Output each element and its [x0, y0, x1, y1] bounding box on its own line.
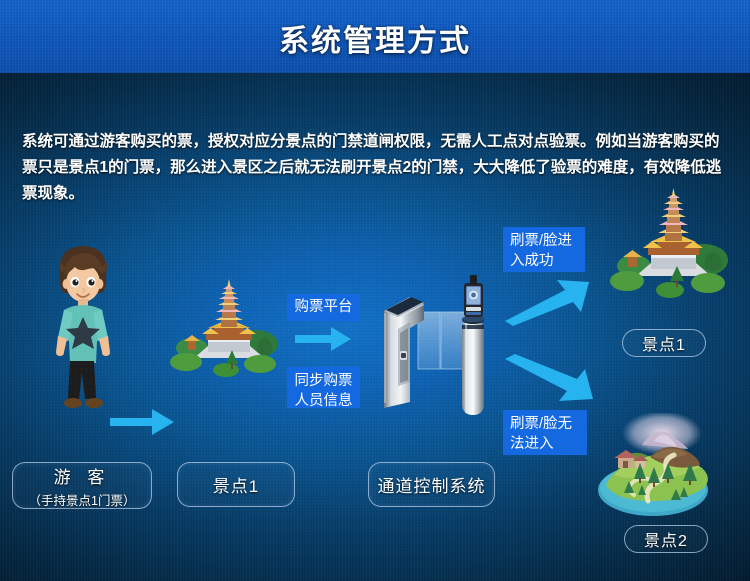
header-band: 系统管理方式	[0, 0, 750, 73]
badge-spot2: 景点2	[624, 525, 708, 553]
intro-paragraph: 系统可通过游客购买的票，授权对应分景点的门禁道闸权限，无需人工点对点验票。例如当…	[22, 129, 728, 207]
arrow-right-icon	[110, 407, 176, 437]
callout-entry-success-line1: 刷票/脸进	[510, 231, 578, 251]
infographic-root: 系统管理方式 系统可通过游客购买的票，授权对应分景点的门禁道闸权限，无需人工点对…	[0, 0, 750, 581]
island-scene-icon	[596, 413, 716, 521]
arrow-up-right-icon	[503, 278, 595, 326]
callout-sync-info-line2: 人员信息	[294, 391, 353, 411]
label-gate-control-system-text: 通道控制系统	[378, 472, 486, 497]
label-tourist-line1: 游 客	[54, 463, 111, 488]
label-spot1-text: 景点1	[213, 472, 259, 497]
label-tourist: 游 客 （手持景点1门票）	[12, 462, 152, 509]
page-title: 系统管理方式	[0, 16, 750, 60]
badge-spot2-label: 景点2	[644, 527, 688, 551]
tourist-person-icon	[40, 243, 126, 413]
diagram-canvas: 系统可通过游客购买的票，授权对应分景点的门禁道闸权限，无需人工点对点验票。例如当…	[0, 73, 750, 581]
callout-ticket-platform: 购票平台	[287, 294, 360, 321]
badge-spot1-label: 景点1	[642, 331, 686, 355]
pagoda-scene-icon	[168, 278, 284, 388]
badge-spot1: 景点1	[622, 329, 706, 357]
turnstile-gate-icon	[378, 273, 490, 463]
callout-entry-success-line2: 入成功	[510, 251, 578, 271]
callout-sync-info: 同步购票 人员信息	[287, 367, 360, 408]
label-gate-control-system: 通道控制系统	[368, 462, 495, 507]
callout-entry-denied-line2: 法进入	[510, 434, 580, 454]
callout-entry-denied: 刷票/脸无 法进入	[503, 410, 587, 455]
callout-ticket-platform-text: 购票平台	[295, 299, 353, 315]
arrow-down-right-icon	[503, 353, 597, 403]
arrow-right-small-icon	[295, 326, 353, 352]
label-spot1: 景点1	[177, 462, 295, 507]
callout-entry-denied-line1: 刷票/脸无	[510, 414, 580, 434]
callout-entry-success: 刷票/脸进 入成功	[503, 227, 585, 272]
label-tourist-line2: （手持景点1门票）	[29, 490, 136, 509]
callout-sync-info-line1: 同步购票	[294, 371, 353, 391]
